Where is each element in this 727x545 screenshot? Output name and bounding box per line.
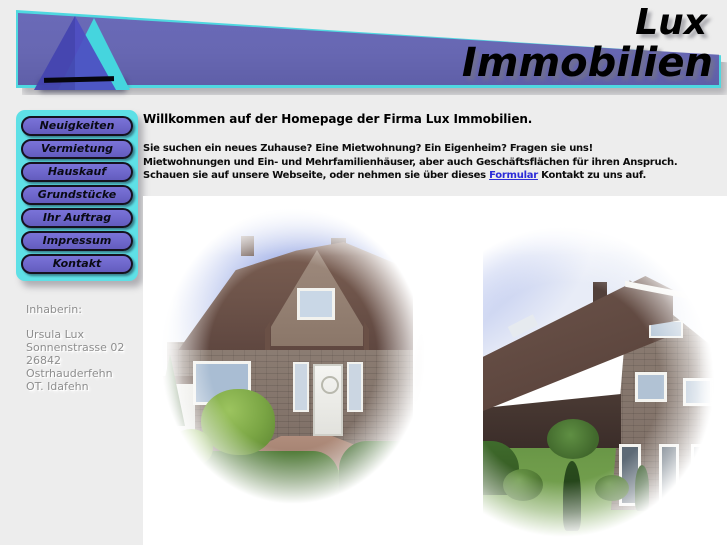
nav-item-kontakt[interactable]: Kontakt [21,254,133,274]
intro-line-3-suffix: Kontakt zu uns auf. [538,170,646,181]
formular-link[interactable]: Formular [489,170,538,181]
left-house-dormer-window [297,288,335,320]
intro-line-1: Sie suchen ein neues Zuhause? Eine Mietw… [143,143,593,154]
owner-city: Ostrhauderfehn [26,367,146,380]
page-title: Willkommen auf der Homepage der Firma Lu… [143,112,723,126]
right-house-window-upper-left [635,372,667,402]
right-house-window-lower-right [691,444,709,486]
nav-item-hauskauf[interactable]: Hauskauf [21,162,133,182]
owner-address-block: Inhaberin: Ursula Lux Sonnenstrasse 02 2… [26,303,146,393]
owner-street: Sonnenstrasse 02 [26,341,146,354]
cypress-tree-3 [635,465,649,511]
intro-paragraph: Sie suchen ein neues Zuhause? Eine Mietw… [143,142,723,183]
left-house-window-right-of-door [347,362,363,412]
brand-name-line1: Lux [635,2,707,43]
small-bush [169,429,213,467]
site-header: Lux Immobilien [0,0,727,103]
round-shrub-2 [595,475,629,501]
intro-line-2: Mietwohnungen und Ein- und Mehrfamilienh… [143,157,677,168]
background-tree [547,419,599,459]
left-house-window-left-of-door [293,362,309,412]
cypress-tree-2 [563,461,581,531]
nav-item-neuigkeiten[interactable]: Neuigkeiten [21,116,133,136]
brand-name-line2: Immobilien [462,40,713,86]
owner-district: OT. Idafehn [26,380,146,393]
owner-name: Ursula Lux [26,328,146,341]
right-house-window-upper-right [683,378,713,406]
cypress-tree-1 [455,445,477,541]
left-house-front-door [313,364,343,436]
main-navigation: Neuigkeiten Vermietung Hauskauf Grundstü… [16,110,138,281]
intro-line-3-prefix: Schauen sie auf unsere Webseite, oder ne… [143,170,489,181]
right-house-window-lower-middle [659,444,679,504]
houses-photo [143,196,727,545]
owner-label: Inhaberin: [26,303,146,316]
nav-item-grundstuecke[interactable]: Grundstücke [21,185,133,205]
nav-item-impressum[interactable]: Impressum [21,231,133,251]
front-hedge-right [339,441,519,495]
left-house-door-wreath [321,376,339,394]
photo-scene [143,196,727,545]
left-house-chimney-1 [241,236,254,256]
triangle-logo-icon [28,12,148,92]
nav-item-vermietung[interactable]: Vermietung [21,139,133,159]
owner-postal-code: 26842 [26,354,146,367]
main-content: Willkommen auf der Homepage der Firma Lu… [143,112,723,183]
round-shrub-1 [503,469,543,501]
nav-item-ihr-auftrag[interactable]: Ihr Auftrag [21,208,133,228]
